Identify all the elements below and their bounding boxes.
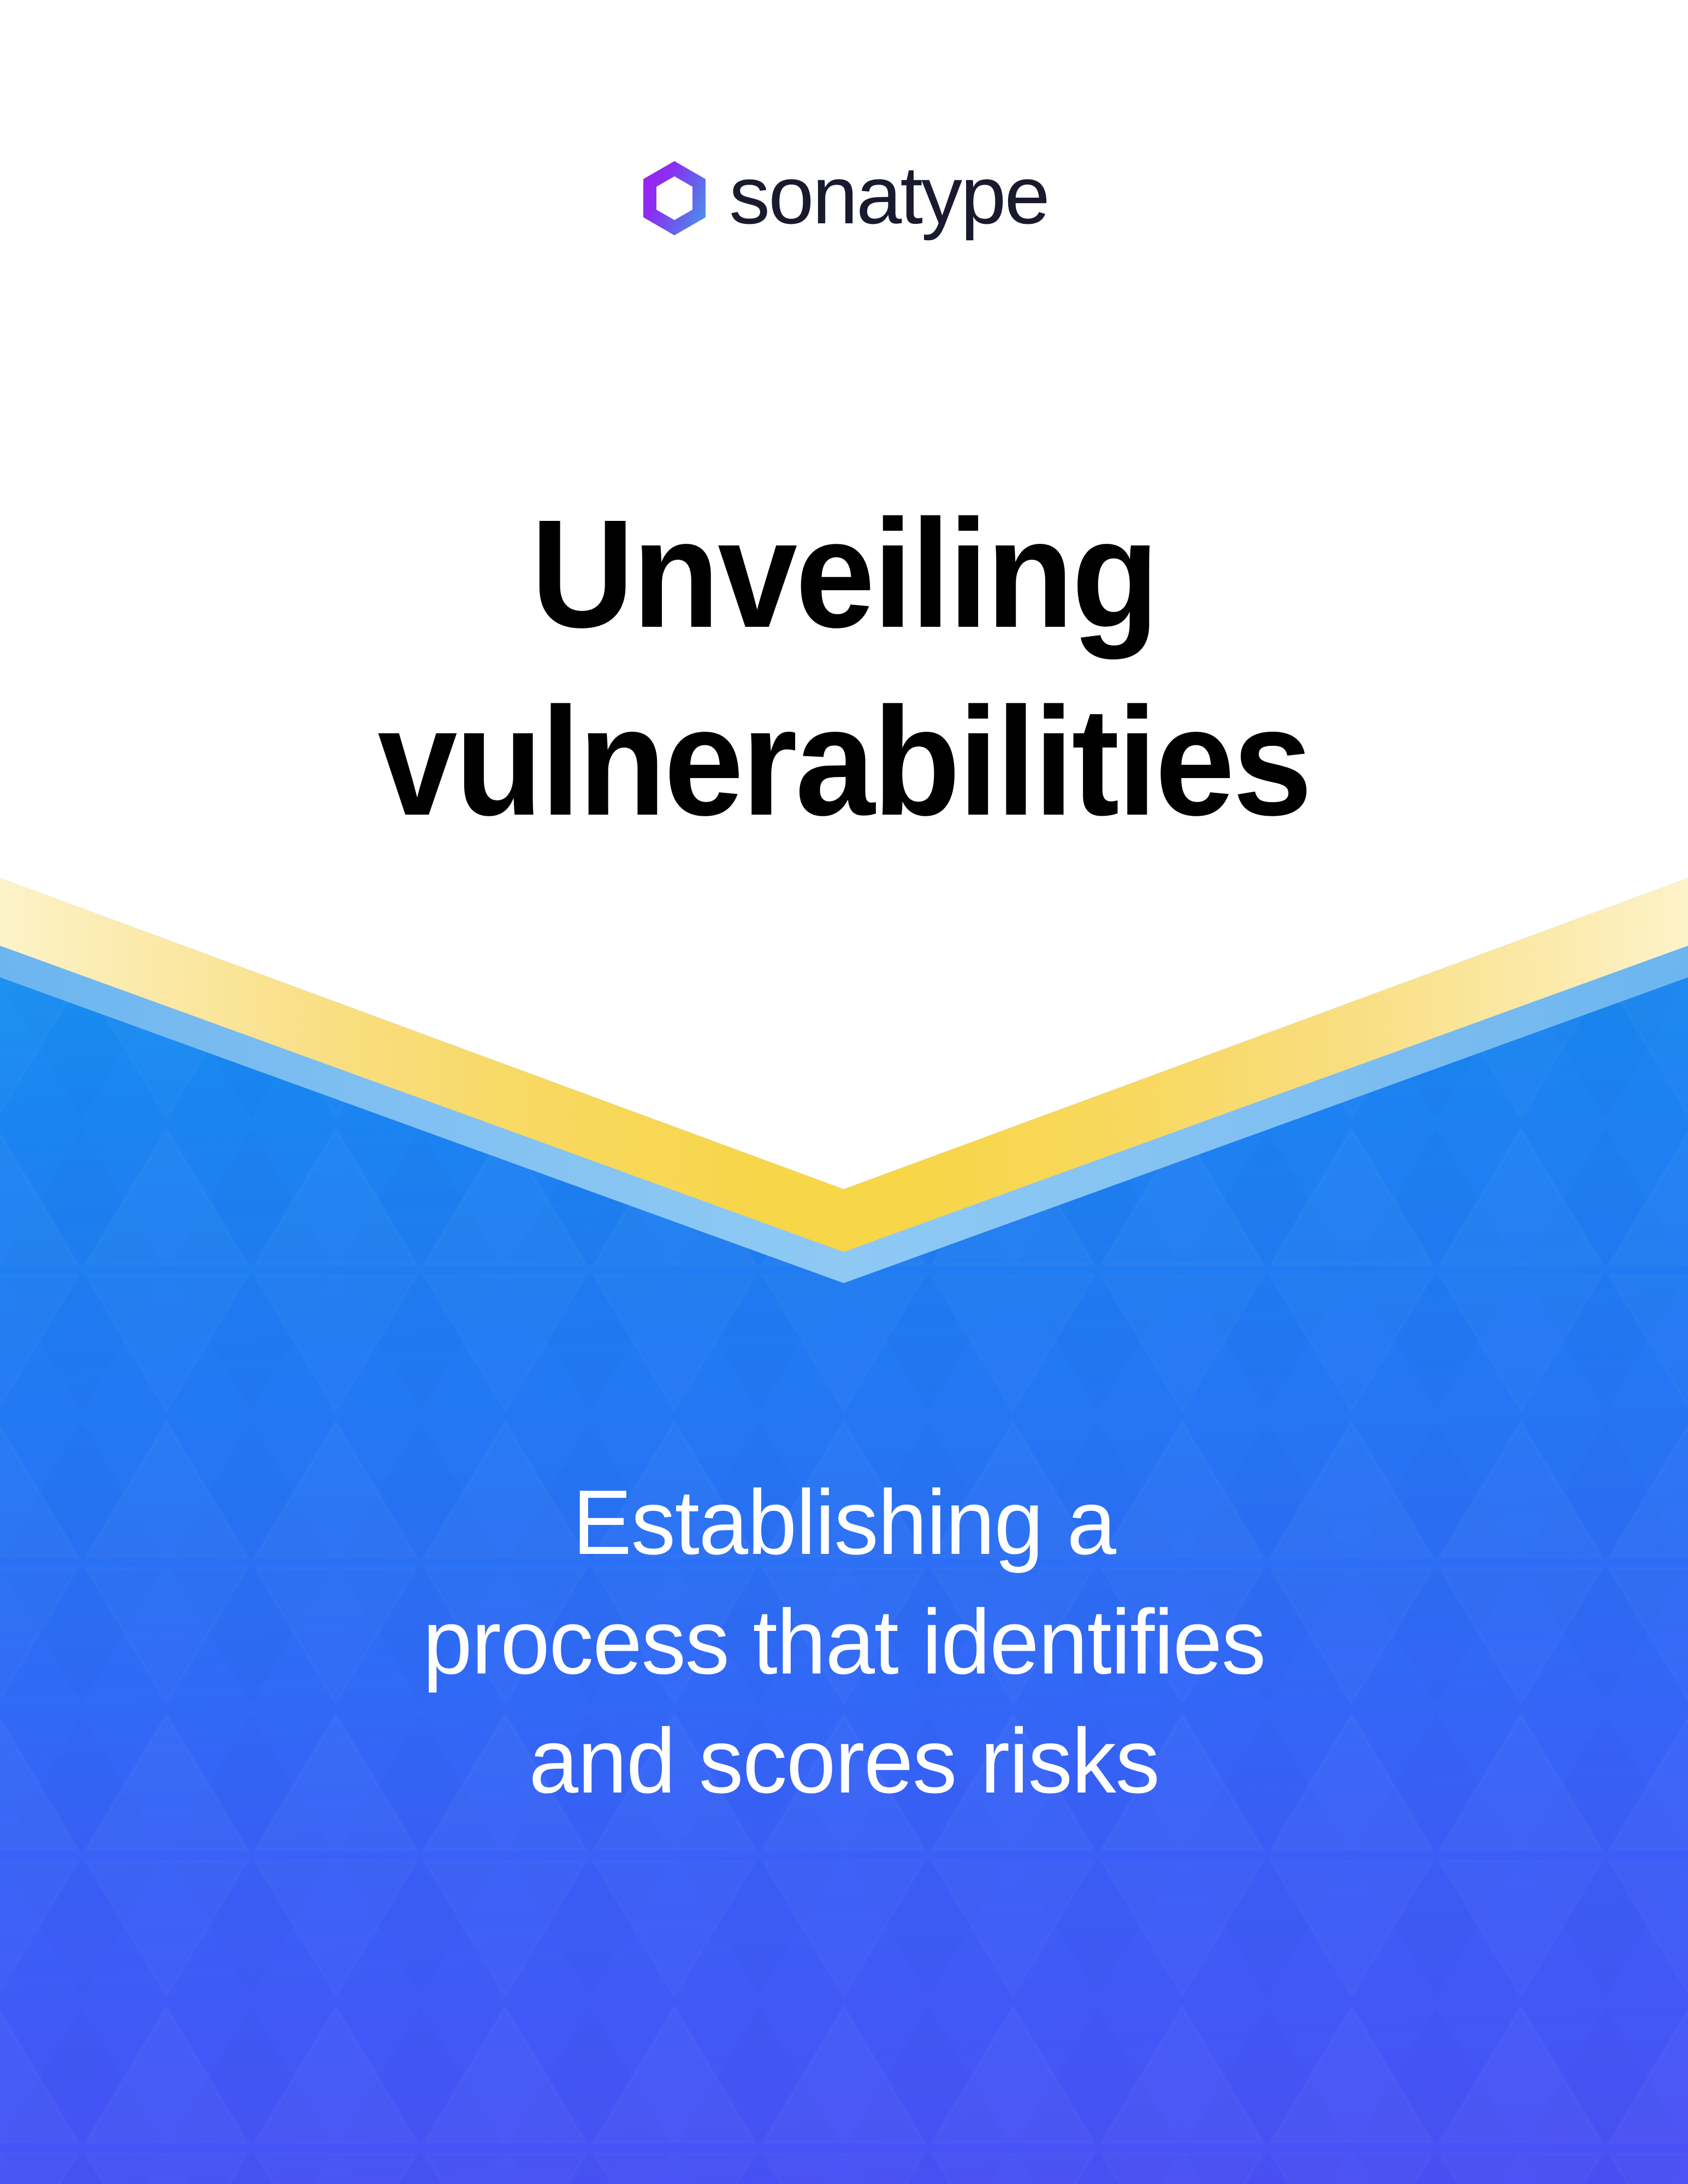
sonatype-wordmark: sonatype	[729, 154, 1049, 236]
sonatype-hexagon-icon	[639, 159, 709, 237]
sonatype-logo-lockup: sonatype	[0, 157, 1688, 239]
subtitle-line-2: process that identifies	[25, 1582, 1662, 1701]
subtitle-line-1: Establishing a	[25, 1463, 1662, 1582]
ebook-cover-page: sonatype Unveiling vulnerabilities Estab…	[0, 0, 1688, 2184]
headline-line-1: Unveiling	[59, 480, 1629, 668]
cover-subtitle: Establishing a process that identifies a…	[25, 1463, 1662, 1820]
headline-line-2: vulnerabilities	[59, 668, 1629, 856]
cover-headline: Unveiling vulnerabilities	[59, 480, 1629, 856]
subtitle-line-3: and scores risks	[25, 1701, 1662, 1820]
